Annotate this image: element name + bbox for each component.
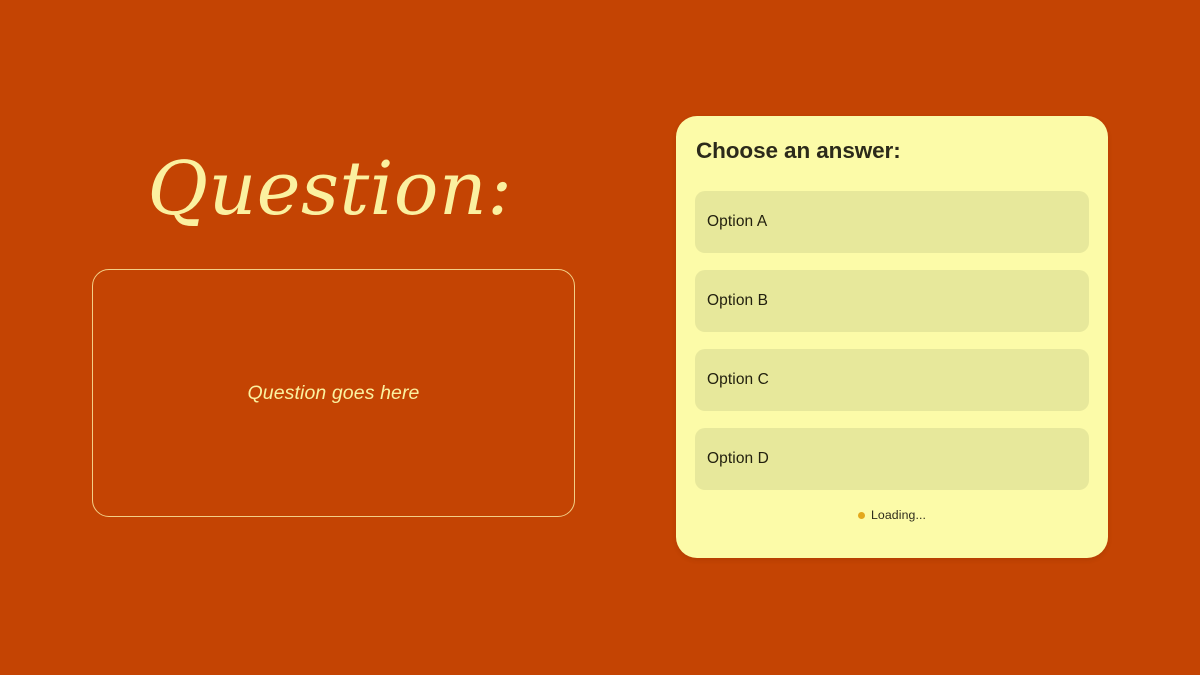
card-status-footer: Loading... <box>695 508 1089 522</box>
card-heading: Choose an answer: <box>696 138 1089 164</box>
question-placeholder-text: Question goes here <box>248 382 420 405</box>
question-panel: Question: Question goes here <box>0 0 660 675</box>
answer-option-c[interactable]: Option C <box>695 349 1089 411</box>
answer-option-label: Option B <box>707 292 768 310</box>
answer-option-d[interactable]: Option D <box>695 428 1089 490</box>
quiz-slide: Question: Question goes here Choose an a… <box>0 0 1200 675</box>
answer-option-label: Option D <box>707 450 769 468</box>
answer-option-a[interactable]: Option A <box>695 191 1089 253</box>
loading-dot-icon <box>858 512 865 519</box>
loading-status-label: Loading... <box>871 508 926 522</box>
answer-option-label: Option C <box>707 371 769 389</box>
answer-option-label: Option A <box>707 213 767 231</box>
answer-card: Choose an answer: Option A Option B Opti… <box>676 116 1108 558</box>
page-title: Question: <box>0 152 660 226</box>
answer-options-list: Option A Option B Option C Option D <box>695 191 1089 490</box>
answer-option-b[interactable]: Option B <box>695 270 1089 332</box>
question-box[interactable]: Question goes here <box>92 269 575 517</box>
